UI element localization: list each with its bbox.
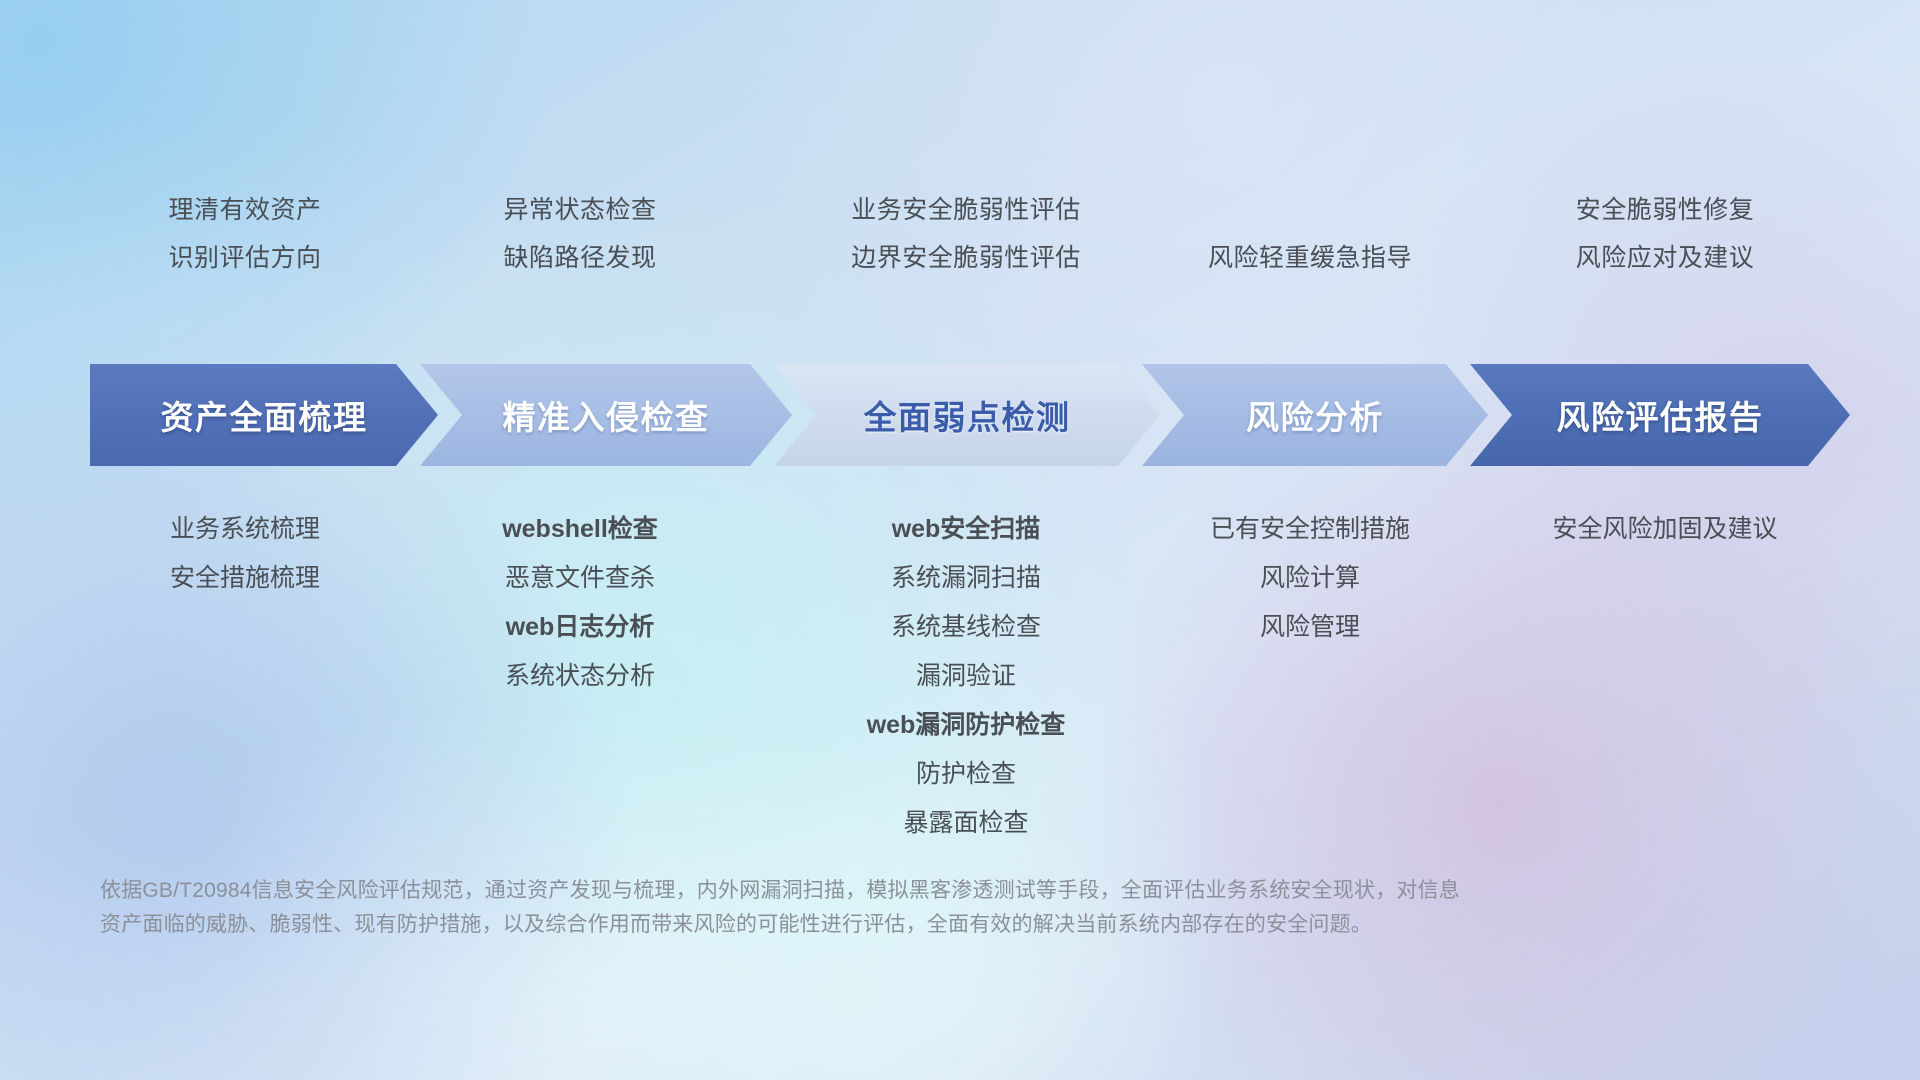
bottom-label-item: 恶意文件查杀	[385, 554, 775, 603]
top-label-item: 理清有效资产	[50, 186, 440, 234]
bottom-label-item: 系统状态分析	[385, 652, 775, 701]
bottom-label-item: web日志分析	[385, 603, 775, 652]
stage-title: 资产全面梳理	[161, 391, 368, 439]
stage-chevron-2[interactable]: 精准入侵检查	[420, 364, 792, 466]
bottom-label-item: 防护检查	[746, 750, 1186, 799]
footer-line: 依据GB/T20984信息安全风险评估规范，通过资产发现与梳理，内外网漏洞扫描，…	[100, 874, 1660, 908]
stage-title: 精准入侵检查	[503, 391, 710, 439]
stage-bottom-labels-4: 已有安全控制措施 风险计算 风险管理	[1100, 505, 1520, 652]
top-label-item: 异常状态检查	[385, 186, 775, 234]
stage-top-labels-2: 异常状态检查 缺陷路径发现	[385, 186, 775, 282]
stage-bottom-labels-2: webshell检查 恶意文件查杀 web日志分析 系统状态分析	[385, 505, 775, 701]
stage-chevron-banner: 资产全面梳理 精准入侵检查 全面弱点检测 风险分析 风险评估报告	[90, 364, 1850, 466]
bottom-label-item: 业务系统梳理	[50, 505, 440, 554]
stage-title: 风险评估报告	[1557, 391, 1764, 439]
stage-chevron-5[interactable]: 风险评估报告	[1470, 364, 1850, 466]
top-label-item: 业务安全脆弱性评估	[746, 186, 1186, 234]
stage-chevron-1[interactable]: 资产全面梳理	[90, 364, 438, 466]
footer-description: 依据GB/T20984信息安全风险评估规范，通过资产发现与梳理，内外网漏洞扫描，…	[100, 874, 1660, 942]
top-label-item: 风险应对及建议	[1470, 234, 1860, 282]
bottom-label-item: webshell检查	[385, 505, 775, 554]
stage-title: 全面弱点检测	[864, 391, 1071, 439]
stage-chevron-3[interactable]: 全面弱点检测	[774, 364, 1160, 466]
stage-top-labels-1: 理清有效资产 识别评估方向	[50, 186, 440, 282]
stage-top-labels-5: 安全脆弱性修复 风险应对及建议	[1470, 186, 1860, 282]
stage-title: 风险分析	[1246, 391, 1384, 439]
stage-bottom-labels-5: 安全风险加固及建议	[1460, 505, 1870, 554]
stage-chevron-4[interactable]: 风险分析	[1142, 364, 1488, 466]
footer-line: 资产面临的威胁、脆弱性、现有防护措施，以及综合作用而带来风险的可能性进行评估，全…	[100, 908, 1660, 942]
bottom-label-item: 安全风险加固及建议	[1460, 505, 1870, 554]
bottom-label-item: 已有安全控制措施	[1100, 505, 1520, 554]
process-flow-diagram: 理清有效资产 识别评估方向 异常状态检查 缺陷路径发现 业务安全脆弱性评估 边界…	[0, 0, 1920, 1080]
top-label-item: 识别评估方向	[50, 234, 440, 282]
bottom-label-item: 漏洞验证	[746, 652, 1186, 701]
top-label-item: 缺陷路径发现	[385, 234, 775, 282]
top-label-item: 安全脆弱性修复	[1470, 186, 1860, 234]
stage-top-labels-4: 风险轻重缓急指导	[1100, 234, 1520, 282]
bottom-label-item: 安全措施梳理	[50, 554, 440, 603]
stage-bottom-labels-1: 业务系统梳理 安全措施梳理	[50, 505, 440, 603]
bottom-label-item: 风险计算	[1100, 554, 1520, 603]
bottom-label-item: 暴露面检查	[746, 799, 1186, 848]
bottom-label-item: 风险管理	[1100, 603, 1520, 652]
bottom-label-item: web漏洞防护检查	[746, 701, 1186, 750]
top-label-item: 风险轻重缓急指导	[1100, 234, 1520, 282]
